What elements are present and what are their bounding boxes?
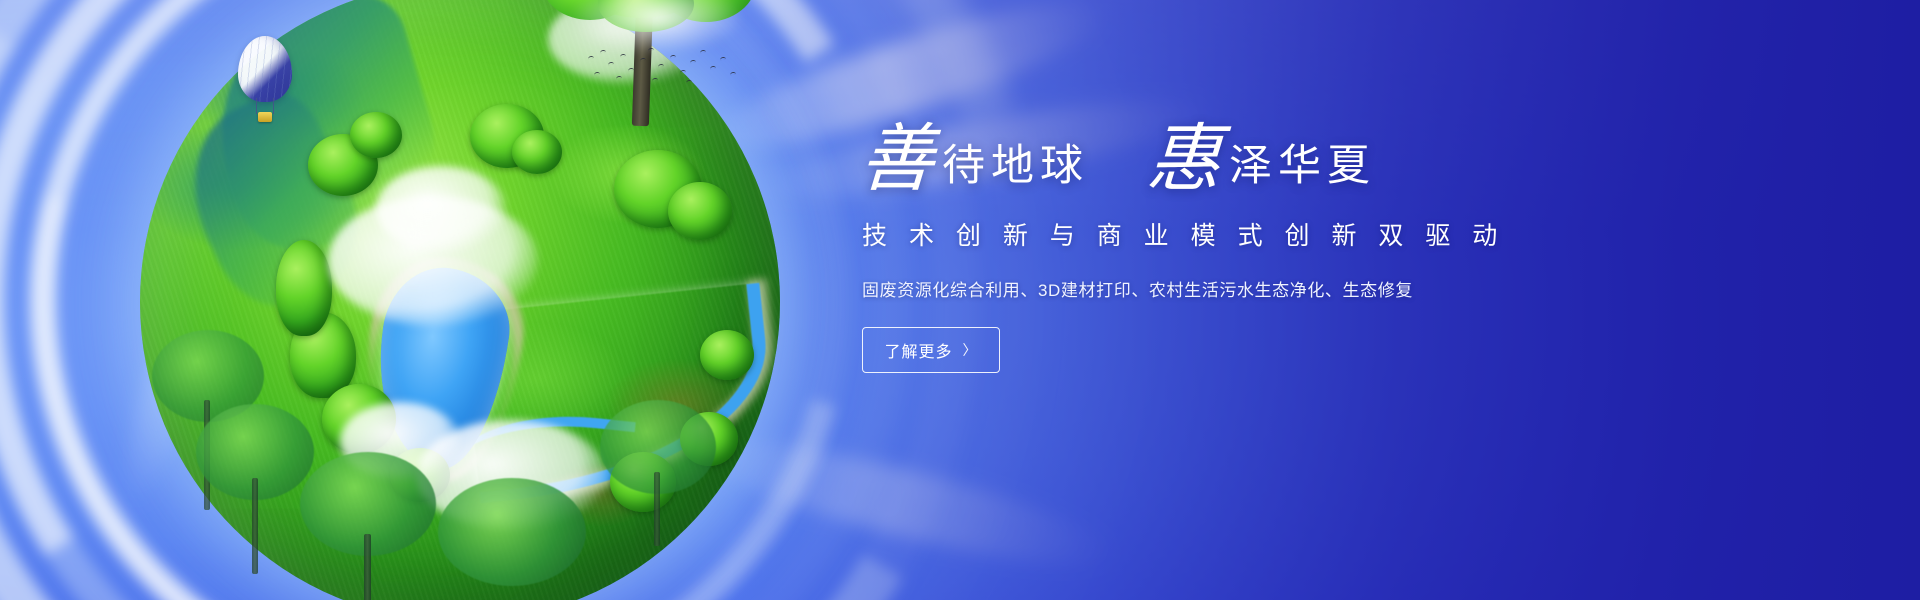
headline-rest-1: 待地球: [934, 145, 1089, 194]
learn-more-button[interactable]: 了解更多 〉: [862, 327, 1000, 373]
cloud-on-globe: [376, 166, 506, 252]
bird-flock: [586, 46, 736, 90]
tree-canopy: [512, 130, 562, 174]
chevron-right-icon: 〉: [963, 340, 978, 360]
tree-canopy: [350, 112, 402, 158]
headline-lead-char-2: 惠: [1145, 126, 1223, 194]
balloon-envelope: [238, 36, 292, 102]
hero-text-block: 善 待地球 惠 泽华夏 技 术 创 新 与 商 业 模 式 创 新 双 驱 动 …: [860, 126, 1560, 373]
page-title: 善 待地球 惠 泽华夏: [860, 126, 1560, 194]
hero-subtitle: 技 术 创 新 与 商 业 模 式 创 新 双 驱 动: [862, 216, 1560, 252]
balloon-basket: [258, 112, 272, 122]
tree-canopy: [668, 182, 732, 240]
headline-lead-char-1: 善: [858, 126, 936, 194]
silhouette-tree: [438, 478, 588, 600]
headline-rest-2: 泽华夏: [1221, 145, 1376, 194]
hero-banner: 善 待地球 惠 泽华夏 技 术 创 新 与 商 业 模 式 创 新 双 驱 动 …: [0, 0, 1920, 600]
tree-canopy: [276, 240, 332, 336]
silhouette-tree: [300, 452, 440, 600]
hero-description: 固废资源化综合利用、3D建材打印、农村生活污水生态净化、生态修复: [862, 276, 1560, 301]
silhouette-tree: [196, 404, 316, 574]
hot-air-balloon: [238, 36, 296, 132]
tree-canopy: [700, 330, 754, 380]
silhouette-tree: [600, 400, 720, 550]
balloon-segments: [238, 36, 292, 102]
learn-more-label: 了解更多: [884, 338, 952, 362]
